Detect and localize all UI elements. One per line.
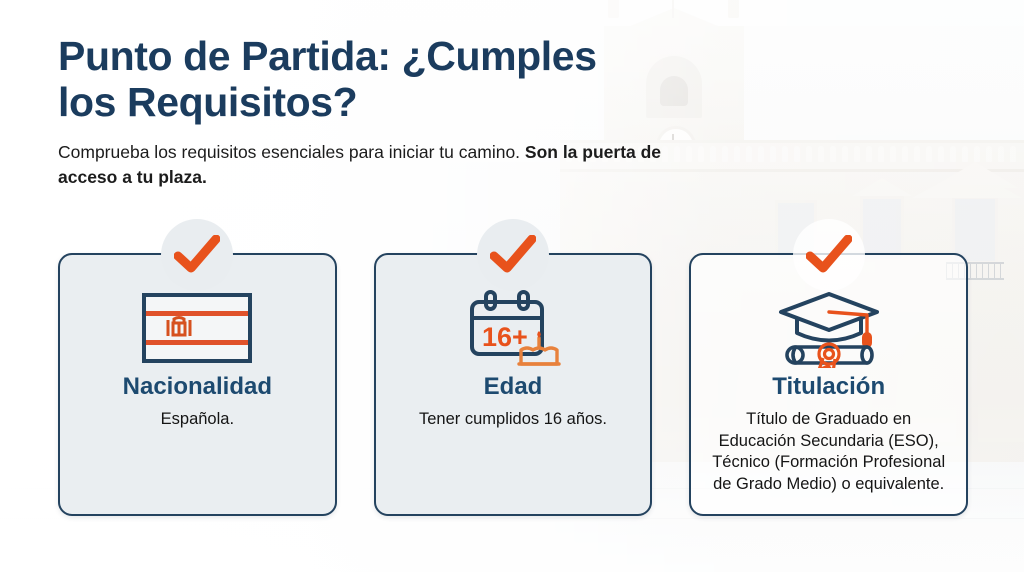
calendar-age-label: 16+ — [482, 322, 528, 352]
page-title-line-2: los Requisitos? — [58, 79, 357, 125]
check-badge — [161, 219, 233, 291]
card-icon-wrap — [705, 289, 952, 367]
page-subtitle: Comprueba los requisitos esenciales para… — [58, 140, 708, 190]
card-description: Título de Graduado en Educación Secundar… — [705, 409, 952, 497]
card-icon-wrap: 16+ — [390, 289, 637, 367]
requirement-cards: Nacionalidad Española. 16+ — [58, 253, 968, 516]
page-subtitle-regular: Comprueba los requisitos esenciales para… — [58, 142, 525, 162]
graduation-diploma-icon — [771, 288, 887, 368]
spain-flag-icon — [141, 292, 253, 364]
slide-root: Punto de Partida: ¿Cumples los Requisito… — [0, 0, 1024, 572]
card-edad[interactable]: 16+ Edad Tener cumplidos 16 años. — [374, 253, 653, 516]
header: Punto de Partida: ¿Cumples los Requisito… — [58, 34, 738, 190]
card-description: Española. — [74, 409, 321, 431]
check-icon — [174, 235, 220, 275]
card-nacionalidad[interactable]: Nacionalidad Española. — [58, 253, 337, 516]
card-title: Edad — [390, 373, 637, 401]
card-description: Tener cumplidos 16 años. — [390, 409, 637, 431]
check-icon — [490, 235, 536, 275]
card-title: Titulación — [705, 373, 952, 401]
card-icon-wrap — [74, 289, 321, 367]
card-title: Nacionalidad — [74, 373, 321, 401]
page-title: Punto de Partida: ¿Cumples los Requisito… — [58, 34, 738, 126]
check-badge — [477, 219, 549, 291]
check-icon — [806, 235, 852, 275]
calendar-birthday-icon: 16+ — [461, 288, 565, 368]
page-title-line-1: Punto de Partida: ¿Cumples — [58, 33, 597, 79]
check-badge — [793, 219, 865, 291]
card-titulacion[interactable]: Titulación Título de Graduado en Educaci… — [689, 253, 968, 516]
